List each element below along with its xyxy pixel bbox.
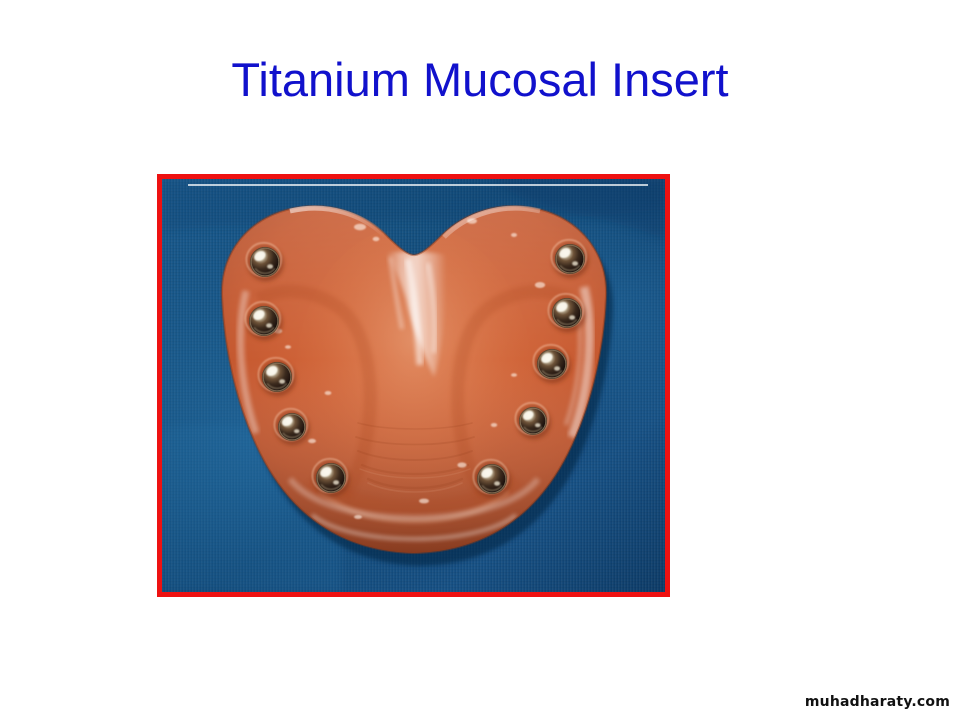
watermark: muhadharaty.com	[805, 694, 950, 710]
clinical-photograph	[162, 179, 665, 592]
slide-canvas: Titanium Mucosal Insert	[0, 0, 960, 720]
page-title: Titanium Mucosal Insert	[0, 54, 960, 106]
figure-frame	[157, 174, 670, 597]
